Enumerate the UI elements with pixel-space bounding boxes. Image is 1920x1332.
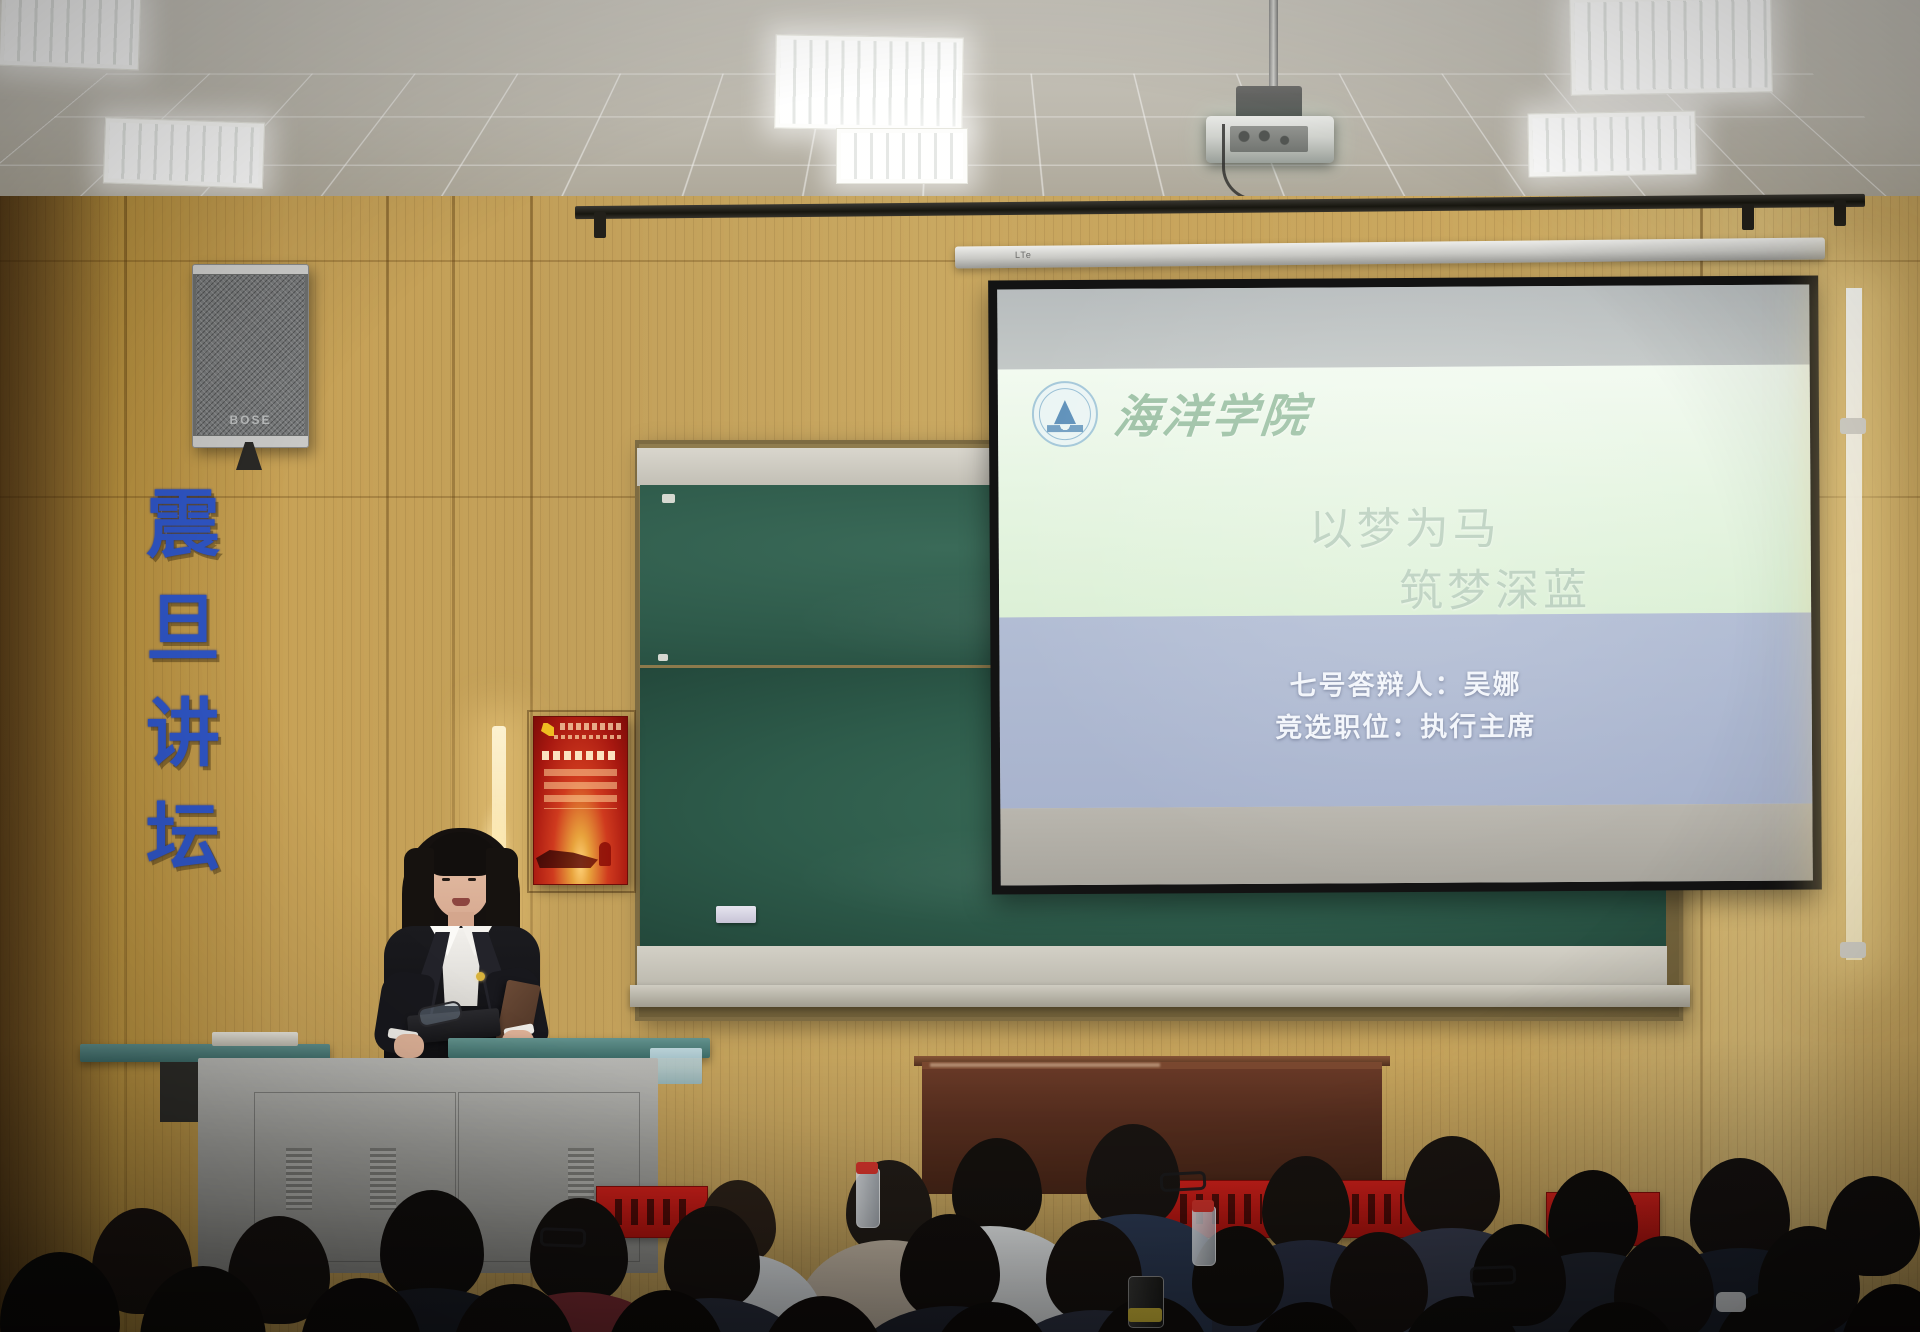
recessed-panel-light-icon [1527,111,1696,178]
audience-head [380,1190,484,1302]
eye-right [468,878,476,881]
poster-headline [542,751,619,760]
speaker-grille [196,275,305,435]
slide-title-line2: 筑梦深蓝 [999,559,1811,626]
wall-calligraphy: 震 旦 讲 坛 [108,490,258,873]
speaker-brand-label: BOSE [193,413,308,427]
presenter-name-line: 七号答辩人：吴娜 [999,663,1811,710]
water-bottle-icon [1192,1206,1216,1266]
calligraphy-char-1: 震 [146,490,220,560]
recessed-panel-light-icon [103,117,265,189]
chalk-tray [630,985,1690,1007]
chalk-piece [662,494,675,503]
vertical-light-strip-icon [1846,288,1862,960]
eyeglasses-icon [1160,1171,1207,1192]
drop-ceiling [0,0,1920,215]
party-emblem-icon [541,723,554,736]
wave-shape [1047,425,1083,432]
person-presenting-icon [372,826,552,1066]
sail-shape [1054,400,1076,424]
slide-band-top [997,285,1809,370]
bottle-cap [856,1162,878,1174]
ocean-college-emblem-icon [1032,381,1098,447]
rail-clip [1742,204,1754,230]
poster-header-text [560,723,621,730]
presentation-slide: 海洋学院 以梦为马 筑梦深蓝 七号答辩人：吴娜 竞选职位：执行主席 [997,285,1813,886]
slide-branding: 海洋学院 [1032,380,1310,448]
slide-title: 以梦为马 筑梦深蓝 [998,496,1811,626]
poster-body-text [544,769,617,809]
calligraphy-char-2: 旦 [146,594,220,664]
wall-loudspeaker-icon: BOSE [192,264,309,448]
light-strip-cap [1840,942,1866,958]
chalk-piece [658,654,668,661]
projector-cable [1222,124,1277,201]
rail-clip [594,212,606,238]
slide-band-bottom [1000,803,1812,885]
projector-bracket [1236,86,1302,120]
board-eraser-icon [716,906,756,923]
eyeglasses-icon [540,1227,587,1248]
school-name-label: 海洋学院 [1111,380,1314,447]
poster-subtext [554,735,621,739]
slide-presenter-info: 七号答辩人：吴娜 竞选职位：执行主席 [999,663,1811,752]
slide-title-line1: 以梦为马 [1309,504,1501,554]
eyeglasses-icon [1470,1265,1517,1286]
mouth [452,898,470,906]
thermos-cap [1128,1308,1162,1322]
bottle-cap [1192,1200,1214,1212]
face-mask-icon [1716,1292,1746,1312]
audience-head [1404,1136,1500,1240]
lecture-hall-photo: 震 旦 讲 坛 BOSE LTe [0,0,1920,1332]
light-strip-cap [1840,418,1866,434]
projector-mount-pole [1269,0,1278,92]
screen-housing-label: LTe [1015,250,1032,260]
eye-left [442,878,450,881]
audience-head [530,1198,628,1304]
calligraphy-char-3: 讲 [146,699,220,769]
calligraphy-char-4: 坛 [146,803,220,873]
position-line: 竞选职位：执行主席 [1000,705,1812,752]
recessed-panel-light-icon [0,0,141,70]
recessed-panel-light-icon [774,34,964,131]
poster-figure-graphic [599,842,611,866]
recessed-panel-light-icon [836,128,968,184]
lapel-pin-icon [476,972,485,981]
water-bottle-icon [856,1168,880,1228]
seated-audience-icon [0,1040,1920,1332]
projection-screen: 海洋学院 以梦为马 筑梦深蓝 七号答辩人：吴娜 竞选职位：执行主席 [988,275,1822,894]
recessed-panel-light-icon [1569,0,1773,96]
rail-clip [1834,200,1846,226]
